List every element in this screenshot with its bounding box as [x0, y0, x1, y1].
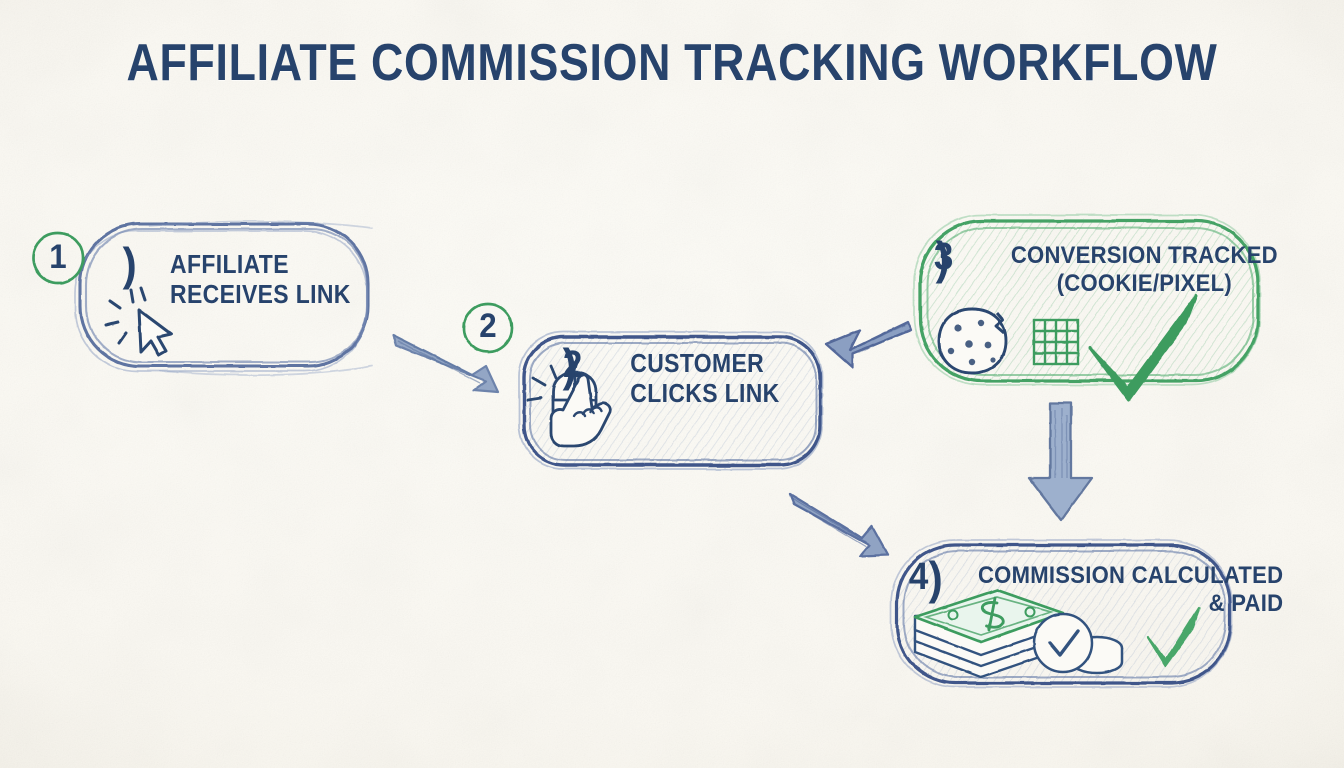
diagram-canvas: AFFILIATE COMMISSION TRACKING WORKFLOW 1… [0, 0, 1344, 768]
node-1-badge-number: 1 [41, 238, 74, 277]
arrow-2-to-4 [790, 494, 888, 556]
node-2-paren: ) [563, 338, 577, 392]
node-4-paren: ) [929, 551, 943, 605]
cursor-click-icon [106, 288, 171, 355]
arrow-3-to-4 [1029, 403, 1092, 520]
page-title: AFFILIATE COMMISSION TRACKING WORKFLOW [94, 33, 1250, 93]
cookie-icon [939, 309, 1006, 373]
node-2-badge-number: 2 [471, 307, 504, 346]
node-1-label: AFFILIATE RECEIVES LINK [170, 251, 351, 310]
node-4-step-number: 4 [909, 556, 928, 599]
node-4-label: COMMISSION CALCULATED & PAID [978, 562, 1283, 619]
node-2-label: CUSTOMER CLICKS LINK [630, 350, 779, 409]
node-3-paren: ) [936, 231, 950, 285]
node-1-paren: ) [123, 237, 137, 291]
arrow-3-to-2 [826, 322, 911, 367]
node-3-label: CONVERSION TRACKED (COOKIE/PIXEL) [1011, 242, 1278, 299]
